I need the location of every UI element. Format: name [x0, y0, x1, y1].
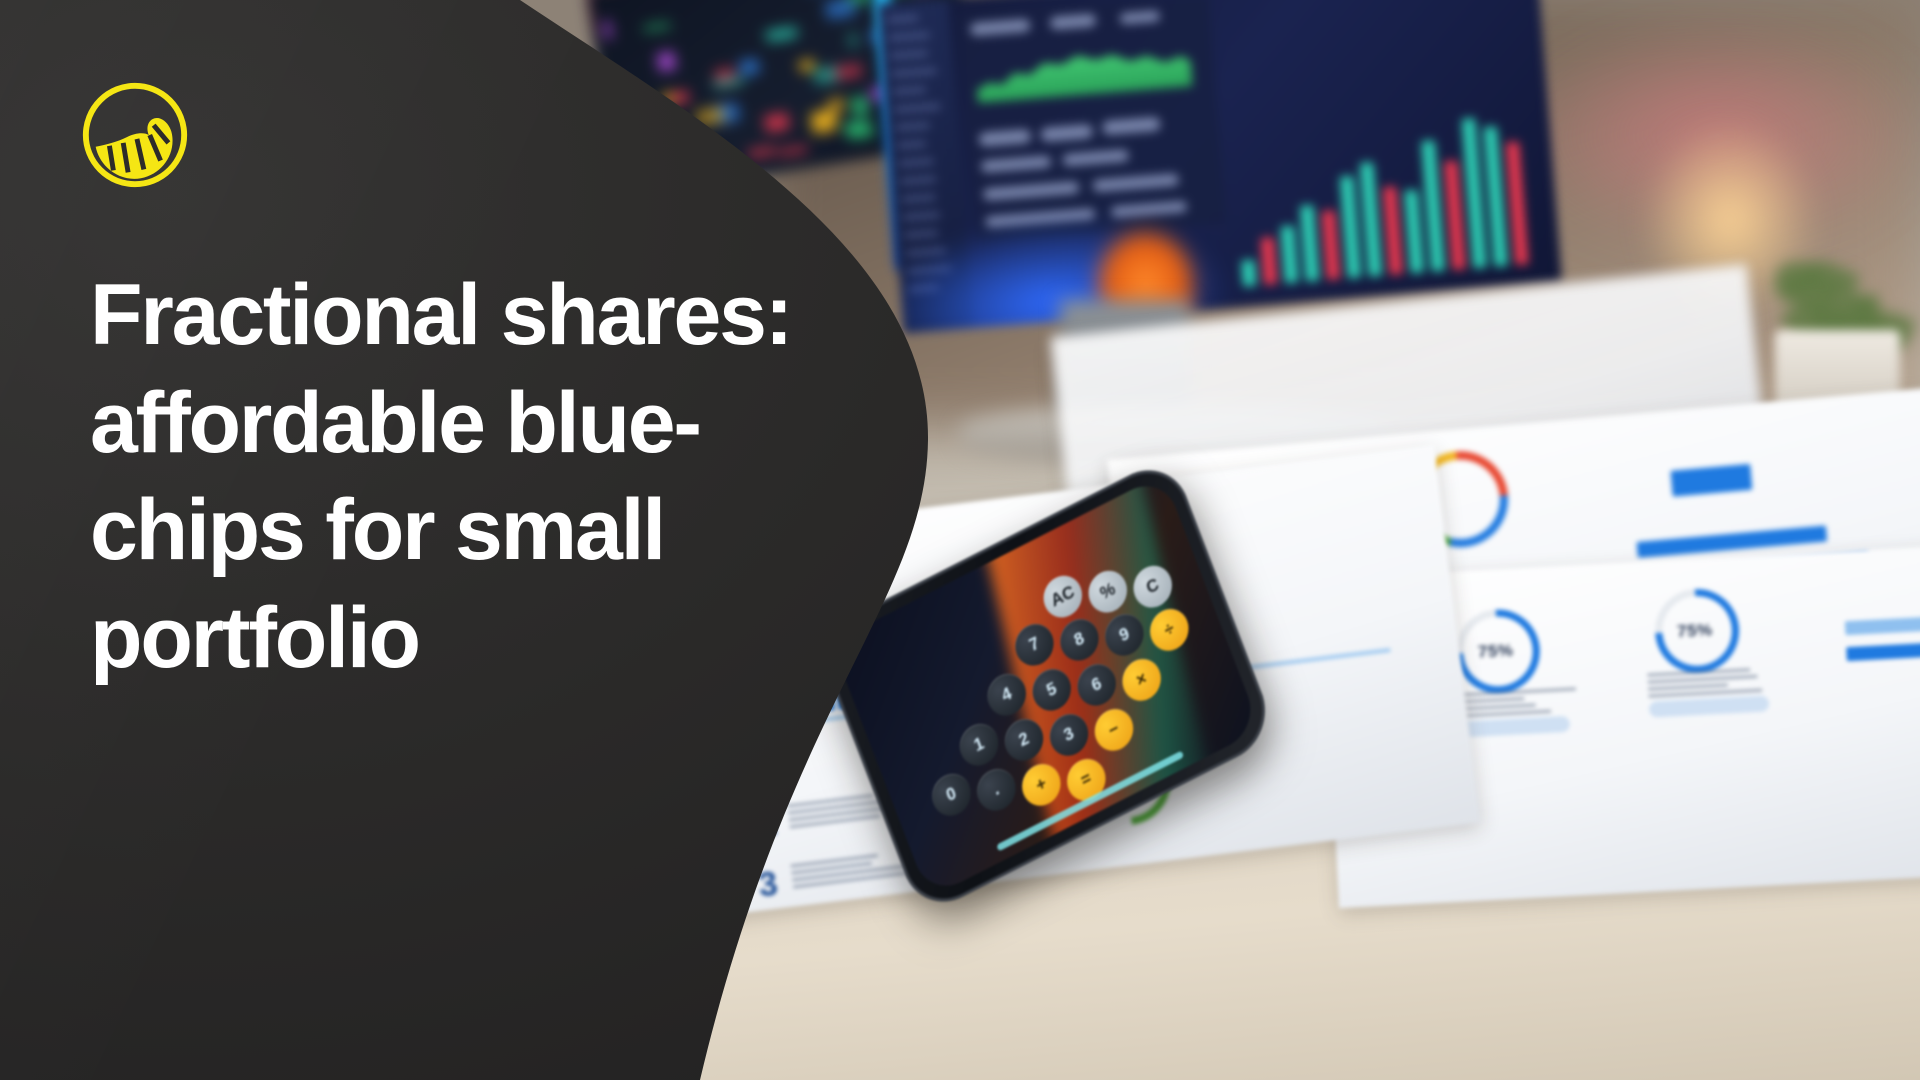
primary-trading-monitor [878, 0, 1562, 333]
donut-label-75b: 75% [1677, 620, 1714, 642]
hero-card: 75% 75% 50% 1 3 AC%C789÷456×123− [0, 0, 1920, 1080]
calculator-key-dot[interactable]: . [971, 762, 1021, 818]
report-blue-block [1670, 464, 1752, 497]
monitor-quote-panel [959, 0, 1226, 243]
calculator-key-0[interactable]: 0 [926, 767, 976, 823]
report-blue-block [1845, 614, 1920, 635]
page-title: Fractional shares: affordable blue- chip… [90, 262, 850, 692]
headline-line-4: portfolio [90, 585, 850, 693]
headline-line-3: chips for small [90, 477, 850, 585]
headline-line-1: Fractional shares: [90, 262, 850, 370]
monitor-candlestick-chart [1228, 74, 1542, 287]
coin-purse-circle-icon[interactable] [76, 76, 194, 194]
report-blue-block [1846, 638, 1920, 661]
donut-label-75a: 75% [1477, 641, 1514, 663]
headline-line-2: affordable blue- [90, 370, 850, 478]
calculator-key-1[interactable]: 1 [954, 717, 1004, 773]
